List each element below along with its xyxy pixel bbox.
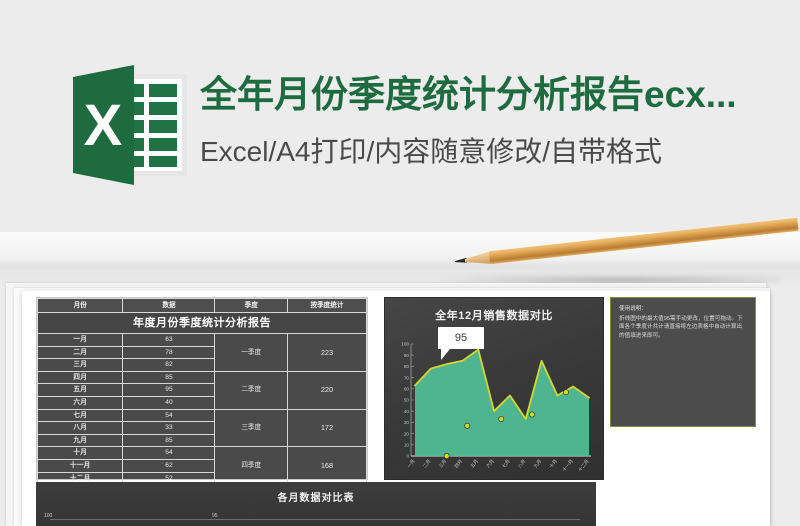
note-heading: 使用说明： (619, 305, 747, 314)
report-table-container[interactable]: 年度月份季度统计分析报告 月份 数据 季度 按季度统计 一月 63 一季度 22… (36, 297, 368, 480)
report-title: 年度月份季度统计分析报告 (38, 313, 367, 334)
chart-canvas: 0102030405060708090100 一月二月三月四月五月六月七月八月九… (385, 298, 603, 479)
cell-quarter-total: 168 (287, 447, 366, 485)
cell-value: 82 (123, 359, 215, 372)
cell-month: 四月 (38, 371, 123, 384)
worksheet-preview: 年度月份季度统计分析报告 月份 数据 季度 按季度统计 一月 63 一季度 22… (22, 291, 770, 526)
x-axis-labels: 一月二月三月四月五月六月七月八月九月十月十一月十二月 (406, 458, 590, 473)
cell-month: 三月 (38, 359, 123, 372)
cell-value: 62 (123, 459, 215, 472)
report-table: 年度月份季度统计分析报告 月份 数据 季度 按季度统计 一月 63 一季度 22… (37, 298, 367, 499)
svg-text:八月: 八月 (517, 459, 527, 470)
svg-text:80: 80 (404, 364, 410, 369)
svg-text:0: 0 (406, 454, 409, 459)
cell-quarter: 四季度 (215, 447, 288, 485)
note-body: 折线图中的最大值95需手动更改，位置可拖动。下面各个季度计共计请直接将左边表格中… (619, 315, 747, 341)
svg-text:30: 30 (404, 420, 410, 425)
table-row: 四月 85 二季度 220 (38, 371, 367, 384)
table-row: 十月 54 四季度 168 (38, 447, 367, 460)
page-subtitle: Excel/A4打印/内容随意修改/自带格式 (200, 130, 780, 174)
svg-text:一月: 一月 (406, 459, 416, 470)
svg-text:十一月: 十一月 (561, 458, 575, 473)
table-row: 一月 63 一季度 223 (38, 334, 367, 347)
bp-baseline (50, 519, 580, 520)
cell-value: 85 (123, 371, 215, 384)
svg-text:10: 10 (404, 443, 410, 448)
cell-value: 78 (123, 346, 215, 359)
svg-text:七月: 七月 (500, 458, 511, 470)
header-banner: X 全年月份季度统计分析报告ecx... Excel/A4打印/内容随意修改/自… (0, 0, 800, 232)
y-axis-ticks: 0102030405060708090100 (401, 342, 414, 459)
page-title: 全年月份季度统计分析报告ecx... (200, 68, 780, 122)
cell-value: 95 (123, 384, 215, 397)
svg-text:九月: 九月 (532, 458, 543, 470)
svg-text:五月: 五月 (469, 459, 479, 470)
cell-value: 40 (123, 396, 215, 409)
chart-callout[interactable]: 95 (438, 327, 484, 349)
cell-value: 85 (123, 434, 215, 447)
cell-month: 五月 (38, 384, 123, 397)
monthly-comparison-title: 各月数据对比表 (36, 489, 596, 504)
screenshot-root: X 全年月份季度统计分析报告ecx... Excel/A4打印/内容随意修改/自… (0, 0, 800, 526)
svg-text:十二月: 十二月 (577, 458, 591, 473)
cell-quarter: 二季度 (215, 371, 288, 409)
pencil-wood-tip (464, 251, 492, 267)
svg-text:20: 20 (404, 431, 410, 436)
svg-text:X: X (84, 93, 123, 158)
cell-quarter-total: 223 (287, 334, 366, 372)
col-header-quarter: 季度 (215, 299, 288, 313)
cell-quarter-total: 220 (287, 371, 366, 409)
cell-value: 54 (123, 409, 215, 422)
svg-text:十月: 十月 (548, 458, 559, 470)
cell-month: 七月 (38, 409, 123, 422)
svg-text:40: 40 (404, 409, 410, 414)
svg-text:100: 100 (401, 342, 409, 347)
col-header-month: 月份 (38, 299, 123, 313)
cell-month: 十月 (38, 447, 123, 460)
svg-text:50: 50 (404, 398, 410, 403)
cell-month: 十一月 (38, 459, 123, 472)
svg-text:四月: 四月 (454, 459, 464, 470)
svg-text:二月: 二月 (422, 459, 432, 470)
chart-callout-tail (441, 349, 450, 360)
excel-logo-icon: X (62, 57, 198, 193)
col-header-quarter-total: 按季度统计 (287, 299, 366, 313)
chart-callout-value: 95 (438, 327, 484, 349)
sales-chart[interactable]: 全年12月销售数据对比 0102030405060708090100 一月二月三… (384, 297, 604, 480)
cell-month: 一月 (38, 334, 123, 347)
cell-value: 33 (123, 422, 215, 435)
svg-text:60: 60 (404, 387, 410, 392)
cell-quarter: 三季度 (215, 409, 288, 447)
cell-month: 九月 (38, 434, 123, 447)
svg-text:90: 90 (404, 353, 410, 358)
cell-month: 八月 (38, 422, 123, 435)
table-header-row: 月份 数据 季度 按季度统计 (38, 299, 367, 313)
cell-quarter-total: 172 (287, 409, 366, 447)
cell-value: 63 (123, 334, 215, 347)
cell-quarter: 一季度 (215, 334, 288, 372)
svg-text:六月: 六月 (484, 458, 495, 470)
instruction-note[interactable]: 使用说明： 折线图中的最大值95需手动更改，位置可拖动。下面各个季度计共计请直接… (610, 297, 756, 427)
col-header-value: 数据 (123, 299, 215, 313)
cell-value: 54 (123, 447, 215, 460)
table-row: 七月 54 三季度 172 (38, 409, 367, 422)
monthly-comparison-panel[interactable]: 各月数据对比表 100 95 (36, 482, 596, 526)
svg-text:三月: 三月 (438, 459, 448, 470)
cell-month: 二月 (38, 346, 123, 359)
cell-month: 六月 (38, 396, 123, 409)
svg-text:70: 70 (404, 375, 410, 380)
